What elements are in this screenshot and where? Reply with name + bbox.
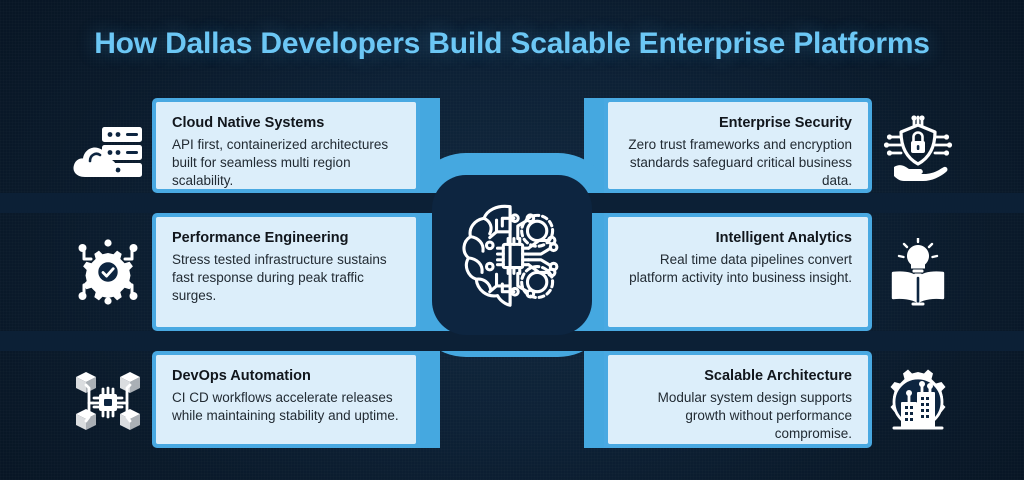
card-body: Modular system design supports growth wi… bbox=[624, 389, 852, 443]
card-body: Zero trust frameworks and encryption sta… bbox=[624, 136, 852, 190]
card-title: Enterprise Security bbox=[624, 114, 852, 133]
buildings-gear-icon bbox=[872, 356, 964, 448]
card-content: Scalable Architecture Modular system des… bbox=[608, 355, 868, 444]
card-content: Cloud Native Systems API first, containe… bbox=[156, 102, 416, 189]
infographic-canvas: How Dallas Developers Build Scalable Ent… bbox=[0, 0, 1024, 480]
card-title: Cloud Native Systems bbox=[172, 114, 400, 133]
gear-check-network-icon bbox=[62, 226, 154, 318]
card-cloud-native-systems[interactable]: Cloud Native Systems API first, containe… bbox=[152, 98, 420, 193]
card-body: CI CD workflows accelerate releases whil… bbox=[172, 389, 400, 425]
card-title: DevOps Automation bbox=[172, 367, 400, 386]
card-content: Intelligent Analytics Real time data pip… bbox=[608, 217, 868, 327]
card-intelligent-analytics[interactable]: Intelligent Analytics Real time data pip… bbox=[604, 213, 872, 331]
card-performance-engineering[interactable]: Performance Engineering Stress tested in… bbox=[152, 213, 420, 331]
card-devops-automation[interactable]: DevOps Automation CI CD workflows accele… bbox=[152, 351, 420, 448]
page-title: How Dallas Developers Build Scalable Ent… bbox=[0, 27, 1024, 61]
card-enterprise-security[interactable]: Enterprise Security Zero trust framework… bbox=[604, 98, 872, 193]
card-body: Real time data pipelines convert platfor… bbox=[624, 251, 852, 287]
circuit-brain-icon bbox=[454, 197, 570, 313]
card-title: Performance Engineering bbox=[172, 229, 400, 248]
cloud-server-icon bbox=[62, 104, 154, 196]
card-scalable-architecture[interactable]: Scalable Architecture Modular system des… bbox=[604, 351, 872, 448]
card-content: Enterprise Security Zero trust framework… bbox=[608, 102, 868, 189]
card-content: Performance Engineering Stress tested in… bbox=[156, 217, 416, 327]
card-body: API first, containerized architectures b… bbox=[172, 136, 400, 190]
card-title: Scalable Architecture bbox=[624, 367, 852, 386]
lightbulb-book-icon bbox=[872, 226, 964, 318]
card-content: DevOps Automation CI CD workflows accele… bbox=[156, 355, 416, 444]
card-body: Stress tested infrastructure sustains fa… bbox=[172, 251, 400, 305]
center-brain-tile bbox=[432, 175, 592, 335]
chip-containers-icon bbox=[62, 356, 154, 448]
shield-lock-hand-icon bbox=[872, 104, 964, 196]
card-title: Intelligent Analytics bbox=[624, 229, 852, 248]
